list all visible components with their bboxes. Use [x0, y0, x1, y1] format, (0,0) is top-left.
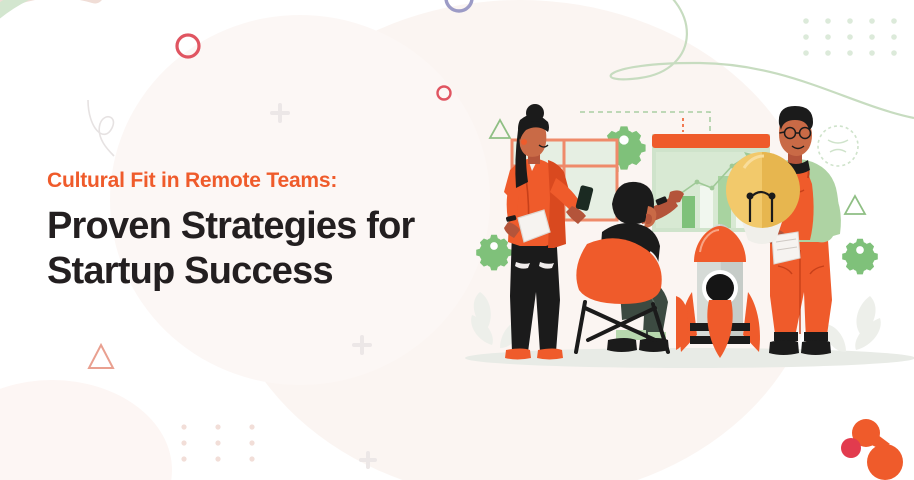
- headline-line-2: Startup Success: [47, 249, 477, 294]
- hero-text-block: Cultural Fit in Remote Teams: Proven Str…: [47, 168, 477, 294]
- hero-banner: Cultural Fit in Remote Teams: Proven Str…: [0, 0, 914, 480]
- headline-line-1: Proven Strategies for: [47, 205, 415, 247]
- page-title: Proven Strategies for Startup Success: [47, 204, 477, 294]
- circle-red-filled: [841, 438, 861, 458]
- eyebrow-text: Cultural Fit in Remote Teams:: [47, 168, 477, 194]
